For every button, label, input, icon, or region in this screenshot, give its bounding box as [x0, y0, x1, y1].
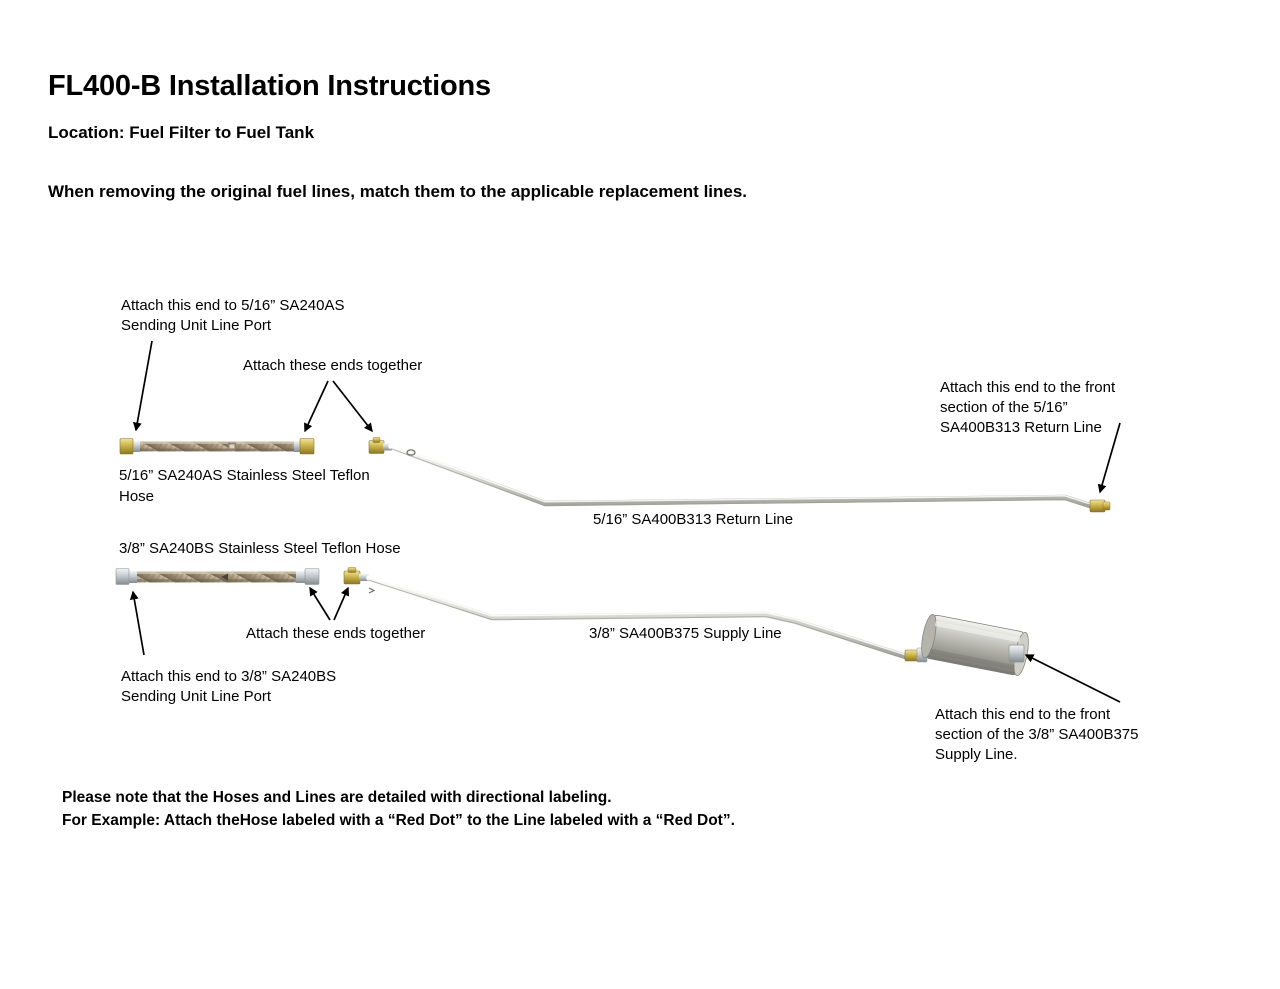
part-label-upper-line: 5/16” SA400B313 Return Line — [593, 509, 793, 530]
annotation-lower-hose-end: Attach this end to 3/8” SA240BS Sending … — [121, 667, 336, 707]
page-title: FL400-B Installation Instructions — [48, 70, 491, 103]
part-label-upper-hose: 5/16” SA240AS Stainless Steel Teflon Hos… — [119, 465, 370, 507]
footer-note-line2: For Example: Attach theHose labeled with… — [62, 812, 735, 829]
arrow-upper-attach-left — [305, 381, 328, 431]
arrow-lower-attach-left — [310, 588, 330, 620]
arrow-upper-attach-right — [333, 381, 372, 431]
arrow-upper-hose-end — [136, 341, 152, 430]
annotation-upper-hose-end: Attach this end to 5/16” SA240AS Sending… — [121, 296, 344, 336]
instruction-text: When removing the original fuel lines, m… — [48, 182, 747, 202]
annotation-upper-attach-together: Attach these ends together — [243, 356, 422, 376]
arrow-lower-attach-right — [334, 588, 348, 620]
lower-hose-assembly — [116, 569, 319, 585]
filter-inlet-fitting — [905, 648, 927, 662]
annotation-upper-line-front: Attach this end to the front section of … — [940, 378, 1115, 438]
part-label-lower-line: 3/8” SA400B375 Supply Line — [589, 623, 782, 644]
footer-note: Please note that the Hoses and Lines are… — [62, 786, 735, 832]
part-label-lower-hose: 3/8” SA240BS Stainless Steel Teflon Hose — [119, 538, 401, 559]
fuel-filter-canister — [919, 613, 1031, 676]
location-subtitle: Location: Fuel Filter to Fuel Tank — [48, 123, 314, 143]
upper-hose-assembly — [120, 439, 314, 455]
upper-line-left-fitting — [369, 438, 392, 454]
upper-line-right-fitting — [1090, 500, 1110, 512]
arrow-lower-hose-end — [133, 592, 144, 655]
lower-line-left-fitting — [344, 568, 369, 585]
filter-outlet-fitting — [1009, 645, 1024, 662]
footer-note-line1: Please note that the Hoses and Lines are… — [62, 789, 612, 806]
annotation-lower-line-front: Attach this end to the front section of … — [935, 705, 1138, 765]
annotation-lower-attach-together: Attach these ends together — [246, 624, 425, 644]
upper-return-line — [369, 438, 1110, 513]
document-page: FL400-B Installation Instructions Locati… — [0, 0, 1280, 989]
arrow-lower-line-front — [1026, 655, 1120, 702]
